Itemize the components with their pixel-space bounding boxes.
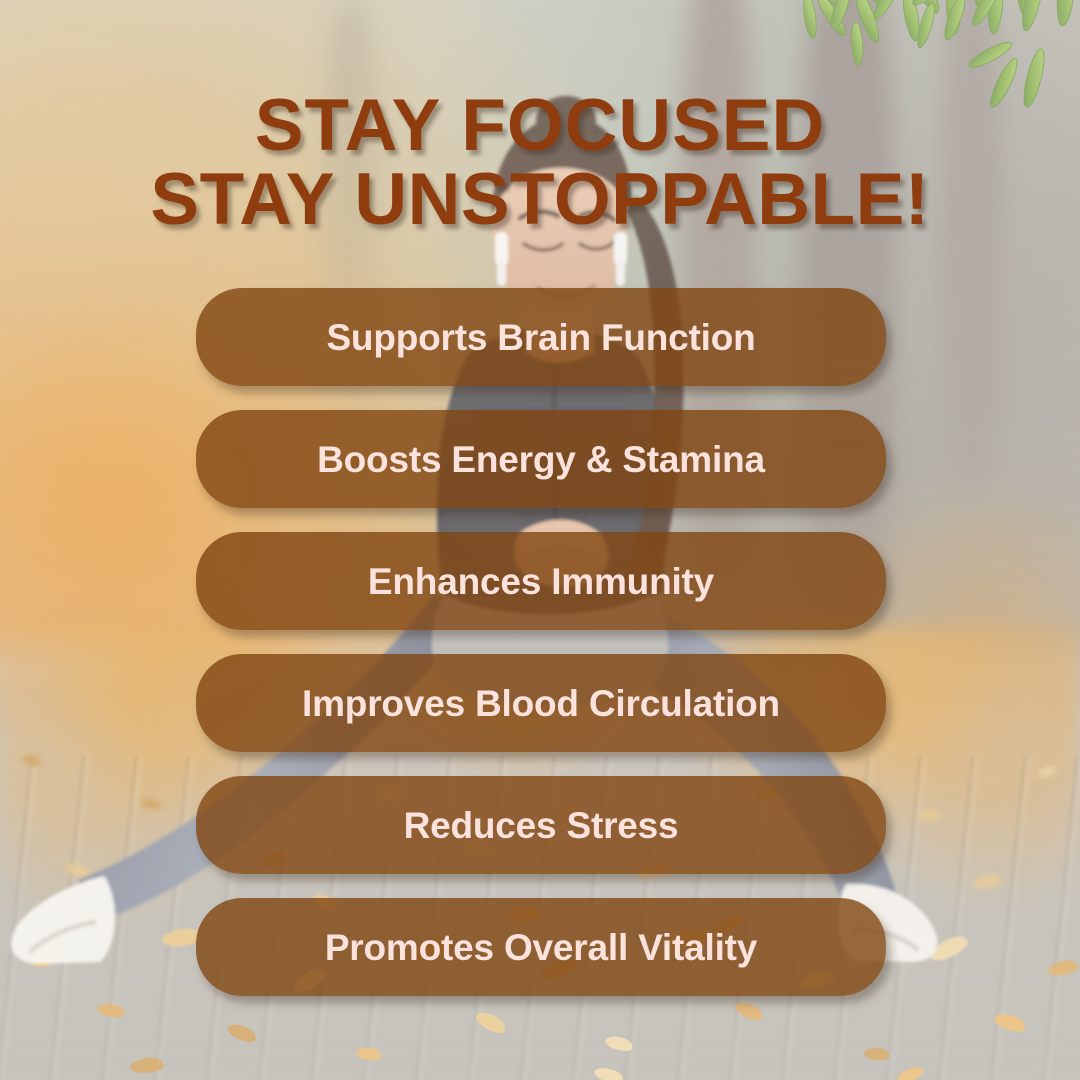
benefit-pill-1[interactable]: Supports Brain Function bbox=[196, 288, 886, 386]
benefit-label: Enhances Immunity bbox=[368, 563, 714, 600]
headline-line-2: STAY UNSTOPPABLE! bbox=[0, 166, 1080, 234]
poster-canvas: STAY FOCUSED STAY UNSTOPPABLE! Supports … bbox=[0, 0, 1080, 1080]
benefit-pill-5[interactable]: Reduces Stress bbox=[196, 776, 886, 874]
benefit-label: Improves Blood Circulation bbox=[302, 685, 780, 722]
headline: STAY FOCUSED STAY UNSTOPPABLE! bbox=[0, 92, 1080, 234]
benefits-list: Supports Brain FunctionBoosts Energy & S… bbox=[196, 288, 886, 996]
benefit-pill-4[interactable]: Improves Blood Circulation bbox=[196, 654, 886, 752]
poster-content: STAY FOCUSED STAY UNSTOPPABLE! Supports … bbox=[0, 0, 1080, 1080]
benefit-label: Promotes Overall Vitality bbox=[325, 929, 757, 966]
benefit-label: Reduces Stress bbox=[404, 807, 679, 844]
headline-line-1: STAY FOCUSED bbox=[0, 92, 1080, 160]
benefit-pill-2[interactable]: Boosts Energy & Stamina bbox=[196, 410, 886, 508]
benefit-label: Boosts Energy & Stamina bbox=[317, 441, 765, 478]
benefit-pill-3[interactable]: Enhances Immunity bbox=[196, 532, 886, 630]
benefit-pill-6[interactable]: Promotes Overall Vitality bbox=[196, 898, 886, 996]
benefit-label: Supports Brain Function bbox=[326, 319, 755, 356]
